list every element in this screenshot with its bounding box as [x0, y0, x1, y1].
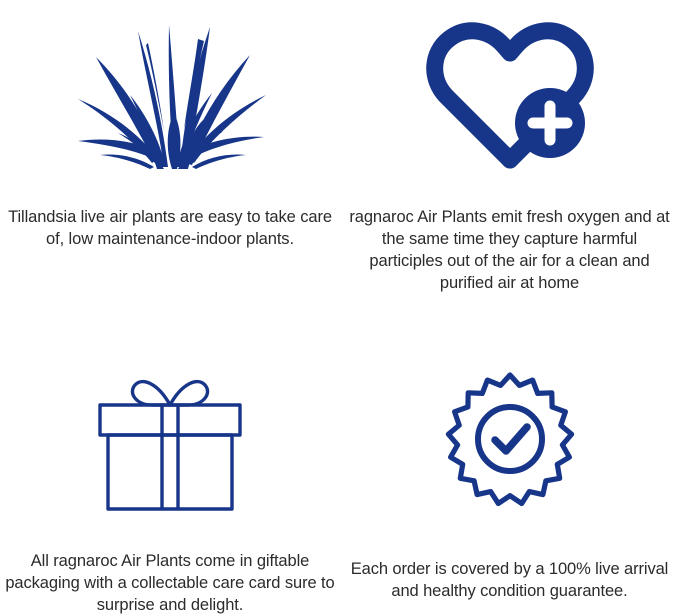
feature-text-live-arrival-guarantee: Each order is covered by a 100% live arr…: [345, 540, 675, 602]
feature-card-live-arrival-guarantee: Each order is covered by a 100% live arr…: [340, 308, 679, 616]
gift-box-icon: [90, 363, 250, 513]
feature-card-giftable-packaging: All ragnaroc Air Plants come in giftable…: [0, 308, 340, 616]
heart-plus-icon: [426, 22, 594, 172]
air-plant-icon-wrap: [70, 0, 270, 186]
feature-text-fresh-oxygen: ragnaroc Air Plants emit fresh oxygen an…: [345, 186, 675, 294]
feature-text-giftable-packaging: All ragnaroc Air Plants come in giftable…: [2, 532, 338, 616]
feature-card-fresh-oxygen: ragnaroc Air Plants emit fresh oxygen an…: [340, 0, 679, 308]
verified-badge-icon: [435, 367, 585, 517]
gift-box-icon-wrap: [90, 308, 250, 532]
feature-grid: Tillandsia live air plants are easy to t…: [0, 0, 679, 616]
heart-plus-icon-wrap: [426, 0, 594, 186]
feature-card-air-plant-care: Tillandsia live air plants are easy to t…: [0, 0, 340, 308]
air-plant-icon: [70, 17, 270, 177]
verified-badge-icon-wrap: [435, 308, 585, 540]
feature-text-air-plant-care: Tillandsia live air plants are easy to t…: [2, 186, 338, 250]
